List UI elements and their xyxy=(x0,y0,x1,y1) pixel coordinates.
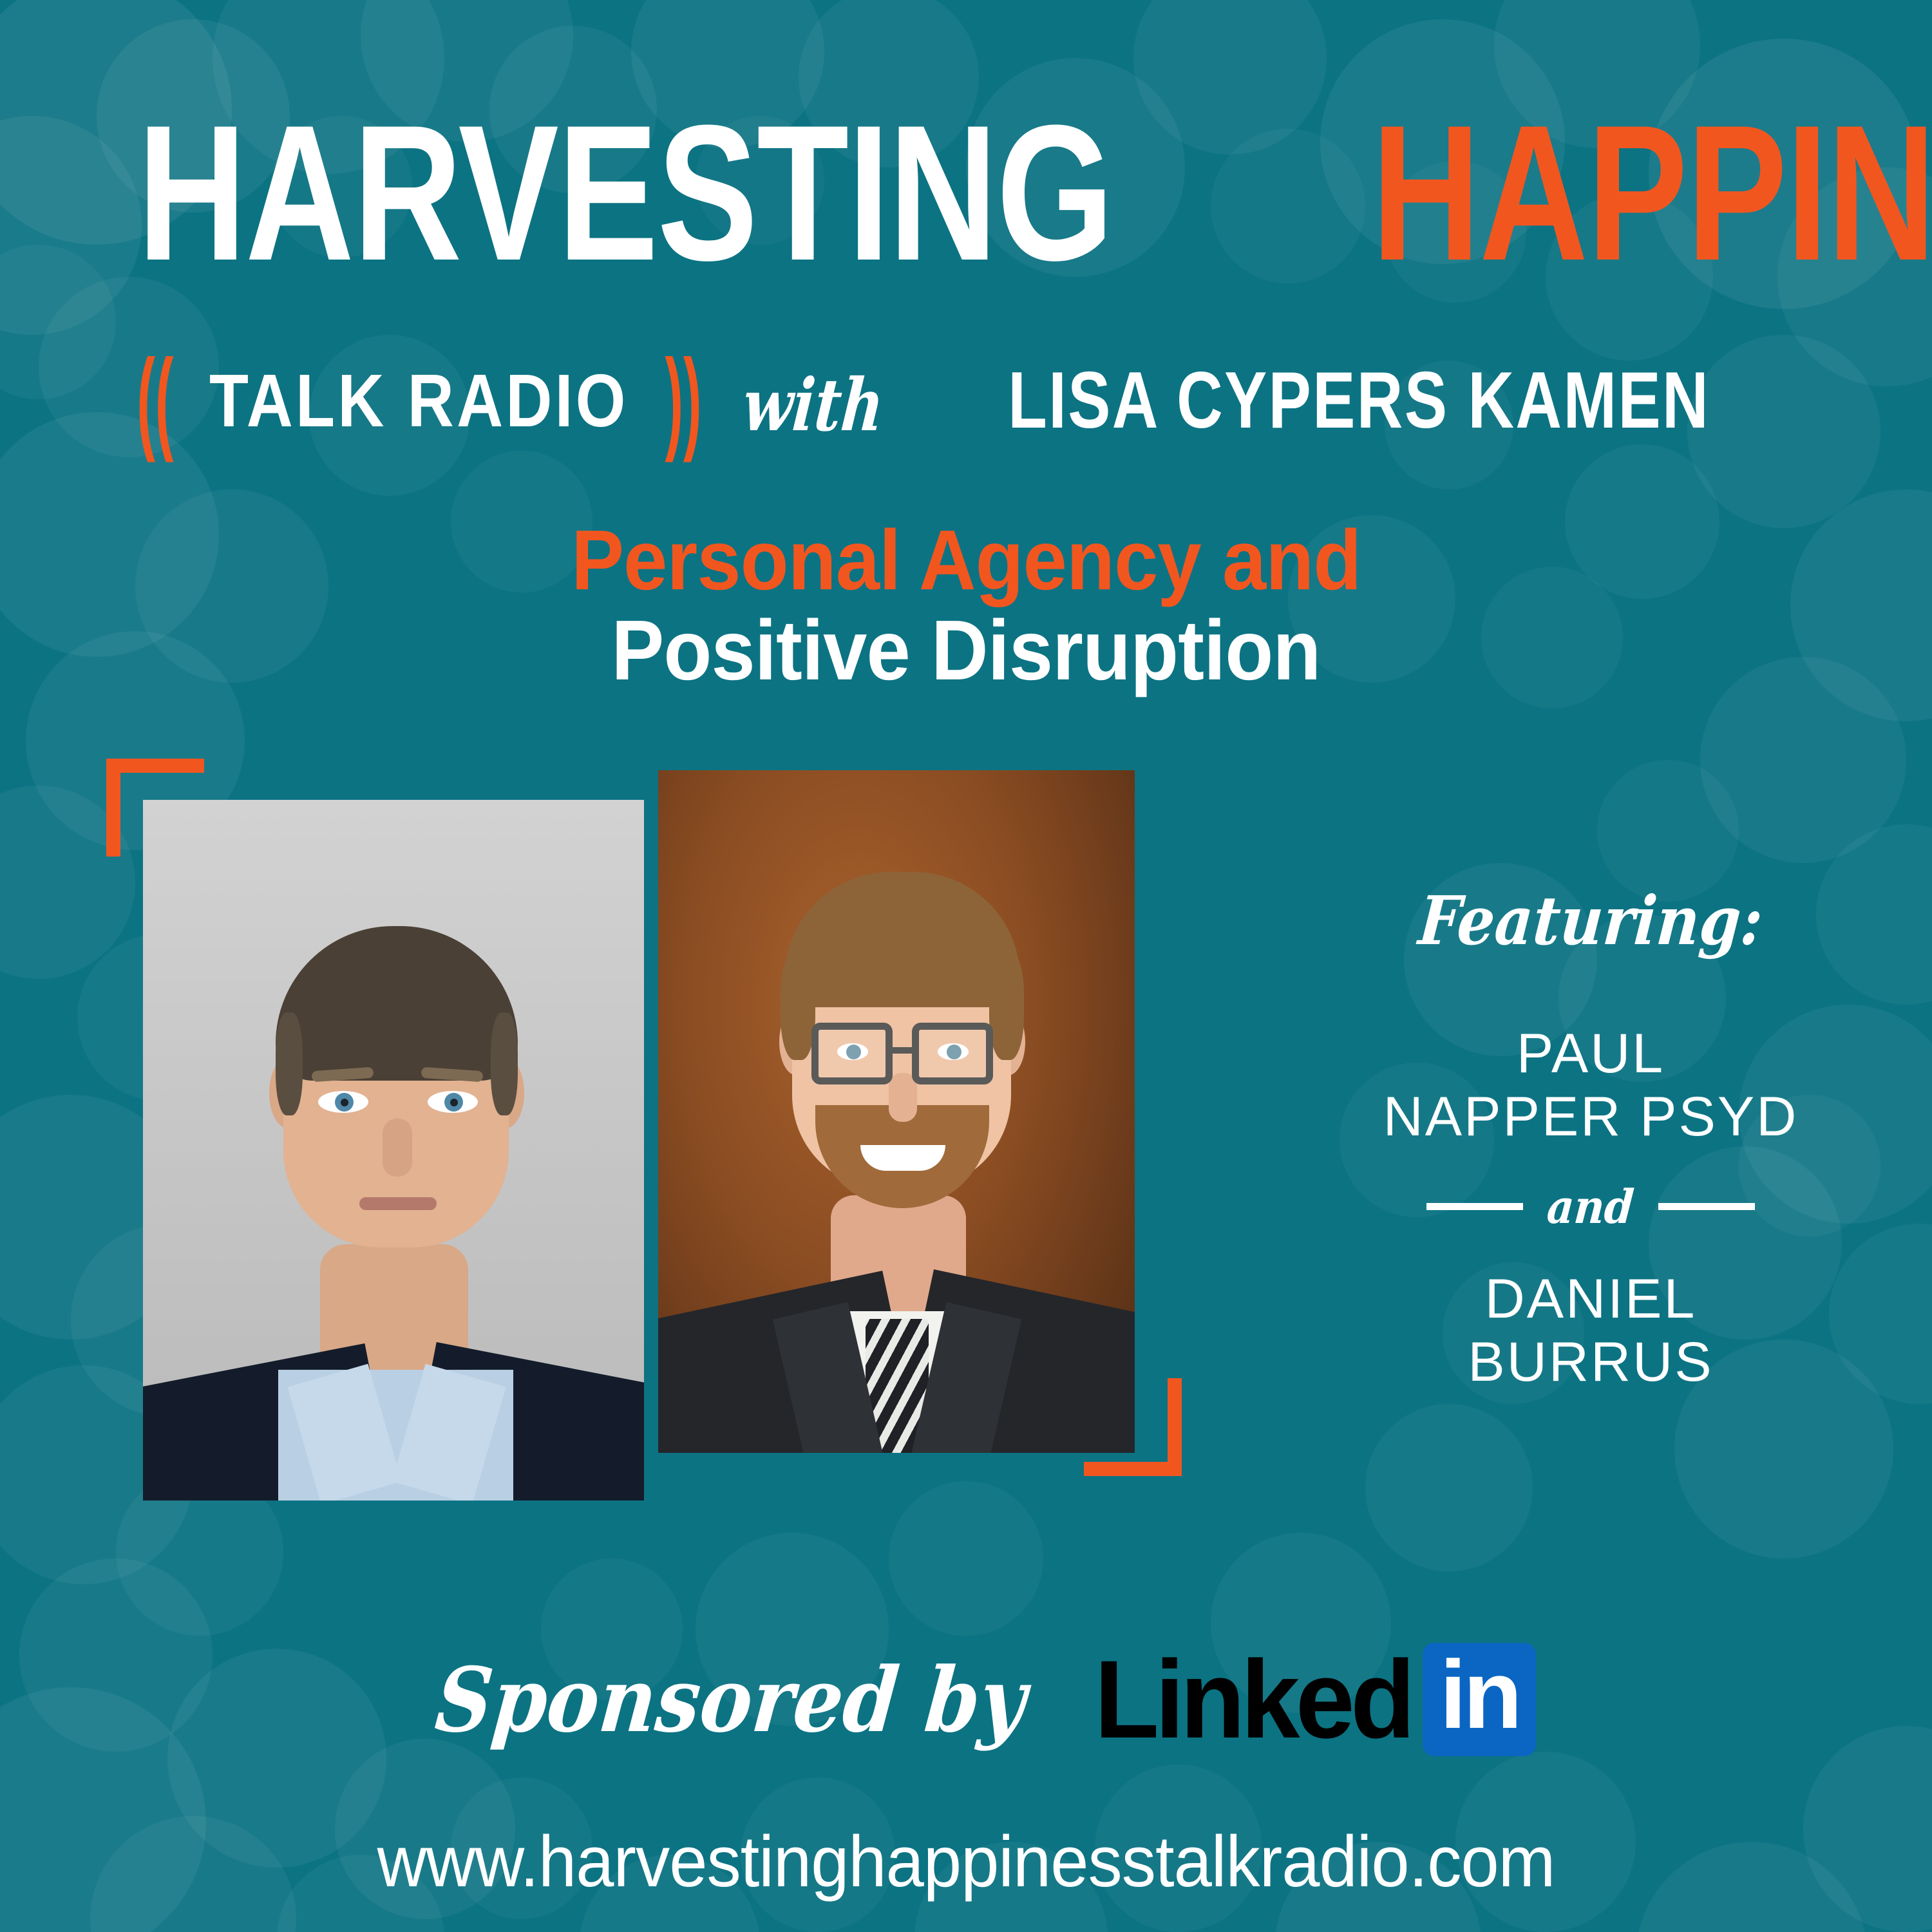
show-subtitle-row: ((TALK RADIO))withLISA CYPERS KAMEN xyxy=(0,349,1932,451)
photo-left-pupil-left xyxy=(341,1099,348,1106)
episode-title: Personal Agency and Positive Disruption xyxy=(0,515,1932,696)
photo-left-mouth xyxy=(359,1197,437,1210)
linkedin-logo[interactable]: Linked in xyxy=(1088,1636,1536,1763)
featuring-label: Featuring: xyxy=(1416,881,1765,960)
show-wordmark: HARVESTINGHAPPINESS xyxy=(0,109,1932,276)
guest-2-line-1: DANIEL xyxy=(1314,1267,1868,1331)
bracket-arm-horizontal xyxy=(106,759,204,773)
format-label: TALK RADIO xyxy=(209,357,629,444)
photo-right-eyeglass-right xyxy=(912,1023,993,1084)
host-name: LISA CYPERS KAMEN xyxy=(1008,355,1710,446)
bokeh-circle xyxy=(889,1481,1043,1636)
bracket-arm-vertical xyxy=(1168,1378,1182,1476)
wordmark-happiness: HAPPINESS xyxy=(1372,109,1932,276)
guest-separator: and xyxy=(1314,1179,1868,1234)
with-word: with xyxy=(740,363,887,448)
corner-bracket-bottom-right-icon xyxy=(1084,1378,1182,1476)
podcast-promo-poster: HARVESTINGHAPPINESS ((TALK RADIO))withLI… xyxy=(0,0,1932,1932)
photo-right-eyeglass-left xyxy=(811,1023,893,1084)
guest-2-name: DANIEL BURRUS xyxy=(1314,1267,1868,1394)
paren-open-icon: (( xyxy=(137,335,173,466)
photo-right-smile xyxy=(860,1145,945,1171)
featuring-block: Featuring: PAUL NAPPER PSYD and DANIEL B… xyxy=(1314,881,1868,1394)
photo-left-hair-side-right xyxy=(491,1012,518,1115)
linkedin-badge-label: in xyxy=(1439,1646,1519,1743)
corner-bracket-top-left-icon xyxy=(106,759,204,857)
bokeh-circle xyxy=(1365,1404,1533,1571)
linkedin-wordmark: Linked xyxy=(1094,1636,1411,1763)
sponsor-row: Sponsored by Linked in xyxy=(0,1636,1932,1763)
episode-title-line-1: Personal Agency and xyxy=(571,515,1361,605)
photo-left-nose xyxy=(383,1119,412,1177)
wordmark-harvesting: HARVESTING xyxy=(138,109,1113,276)
guest-1-line-2: NAPPER PSYD xyxy=(1314,1085,1868,1148)
photo-right-hair-side-right xyxy=(989,951,1024,1060)
photo-right-eyeglass-bridge xyxy=(891,1047,914,1054)
sponsored-by-label: Sponsored by xyxy=(431,1647,1030,1752)
guest-2-line-2: BURRUS xyxy=(1314,1331,1868,1394)
guest-photo-right xyxy=(658,770,1135,1453)
separator-rule-left xyxy=(1426,1203,1523,1210)
paren-close-icon: )) xyxy=(665,335,702,466)
bokeh-circle xyxy=(1597,760,1739,902)
linkedin-badge-icon: in xyxy=(1423,1643,1536,1756)
separator-and-word: and xyxy=(1545,1179,1636,1234)
bracket-arm-vertical xyxy=(106,759,120,857)
photo-left-hair-side-left xyxy=(276,1012,303,1115)
photo-left-pupil-right xyxy=(450,1099,458,1106)
guest-1-name: PAUL NAPPER PSYD xyxy=(1314,1022,1868,1148)
separator-rule-right xyxy=(1658,1203,1755,1210)
photo-right-hair-side-left xyxy=(781,951,815,1060)
website-url[interactable]: www.harvestinghappinesstalkradio.com xyxy=(48,1820,1884,1903)
guest-photo-left xyxy=(143,800,644,1501)
guest-1-line-1: PAUL xyxy=(1314,1022,1868,1085)
episode-title-line-2: Positive Disruption xyxy=(612,605,1321,696)
